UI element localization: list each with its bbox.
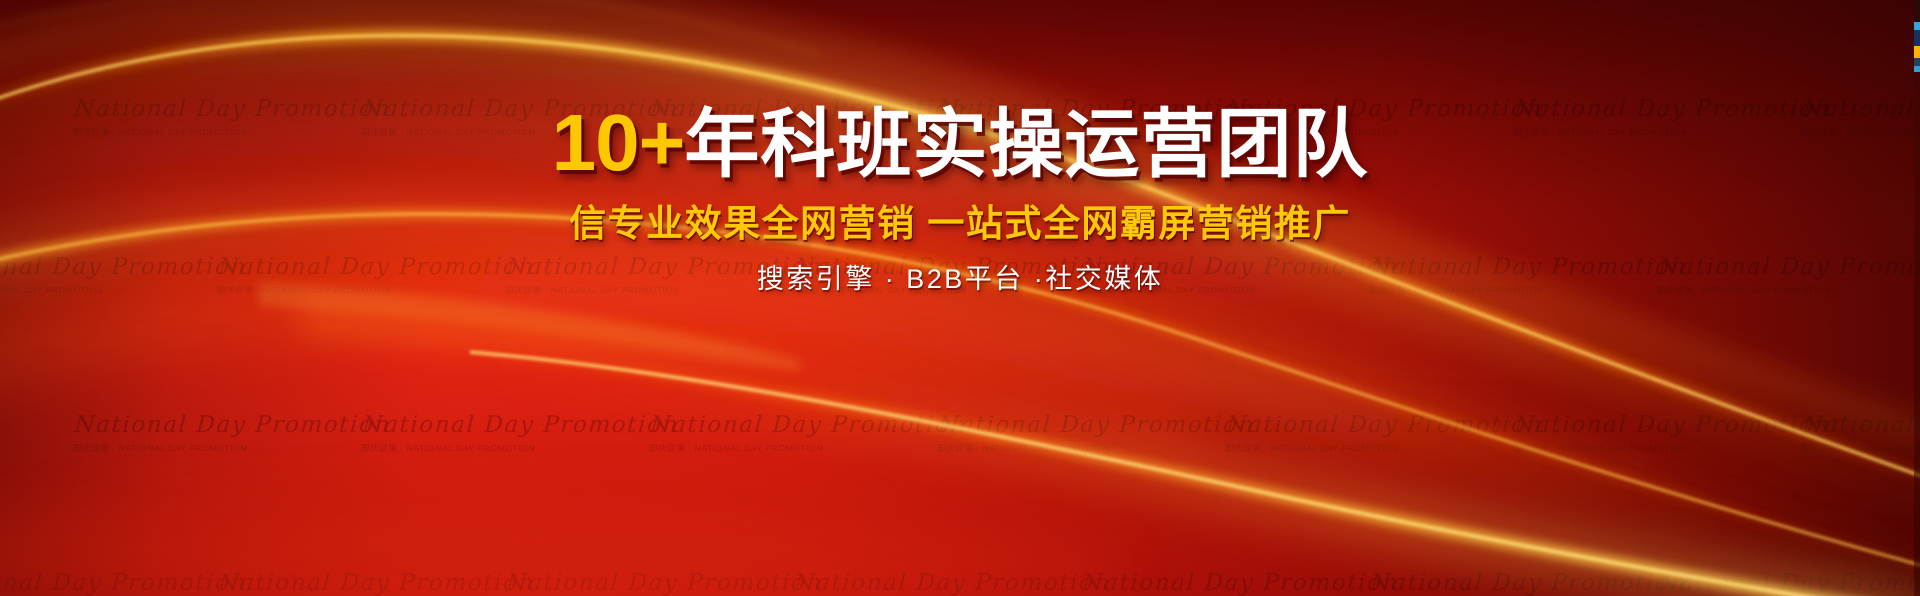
- headline: 10+年科班实操运营团队: [552, 103, 1369, 183]
- subheadline: 信专业效果全网营销 一站式全网霸屏营销推广: [569, 205, 1351, 242]
- page-edge-sliver: [1914, 0, 1920, 596]
- headline-number: 10+: [552, 98, 685, 187]
- light-streaks: [0, 0, 1920, 596]
- promo-banner: National Day Promotion国庆促销 · NATIONAL DA…: [0, 0, 1920, 596]
- headline-text: 年科班实操运营团队: [684, 102, 1368, 186]
- tagline-channels: 搜索引擎 · B2B平台 ·社交媒体: [757, 266, 1164, 293]
